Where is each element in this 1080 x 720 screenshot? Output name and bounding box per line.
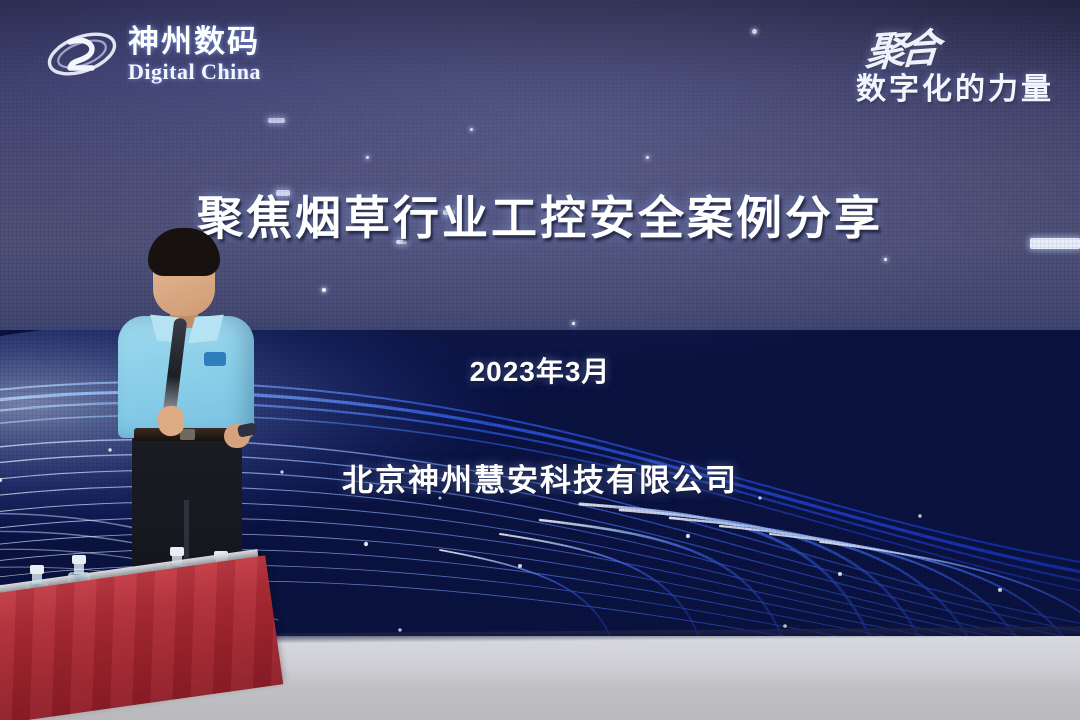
light-dot <box>322 288 326 292</box>
brand-logo: 神州数码 Digital China <box>44 22 261 86</box>
light-dot <box>366 156 369 159</box>
swirl-galaxy-icon <box>44 22 120 86</box>
event-slogan: 聚合 数字化的力量 <box>856 18 1054 108</box>
speaker-hair <box>148 228 220 276</box>
brand-name-cn: 神州数码 <box>128 26 261 57</box>
slogan-brush-text: 聚合 <box>864 16 937 79</box>
light-dot <box>752 29 757 34</box>
speaker-chest-logo <box>204 352 226 366</box>
light-dot <box>646 156 649 159</box>
presentation-clicker-icon <box>237 422 257 437</box>
brand-wordmark: 神州数码 Digital China <box>128 26 261 83</box>
speaker-polo-shirt <box>118 316 254 438</box>
conference-photo: 神州数码 Digital China 聚合 数字化的力量 聚焦烟草行业工控安全案… <box>0 0 1080 720</box>
light-dot <box>470 128 473 131</box>
bottle-cap <box>72 555 86 564</box>
bottle-cap <box>170 547 184 556</box>
light-dot <box>884 258 887 261</box>
light-dot <box>572 322 575 325</box>
bottle-cap <box>214 551 228 560</box>
light-dash <box>268 118 285 123</box>
brand-name-en: Digital China <box>128 61 261 83</box>
bottle-cap <box>30 565 44 574</box>
